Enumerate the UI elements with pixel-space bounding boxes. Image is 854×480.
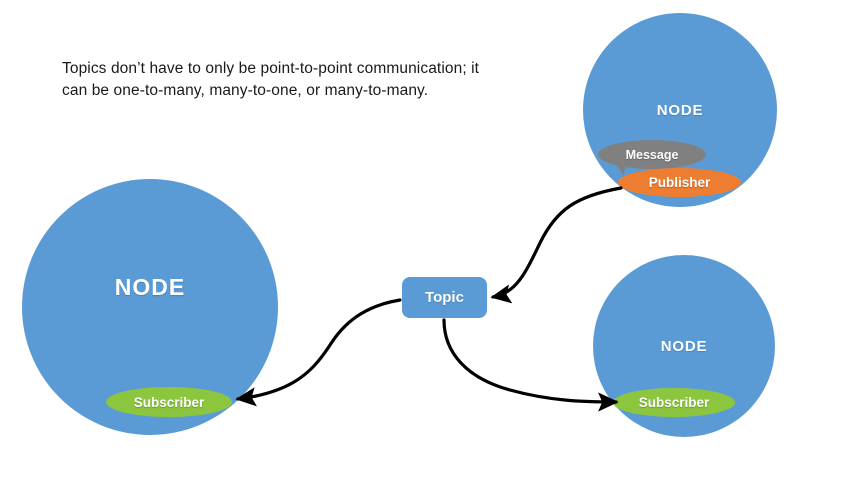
topic-box: Topic xyxy=(402,277,487,318)
node-left-label: NODE xyxy=(22,274,278,301)
subscriber-pill-bottom-right: Subscriber xyxy=(613,388,735,417)
subscriber-pill-left: Subscriber xyxy=(106,387,232,417)
arrow-publisher-to-topic xyxy=(493,188,621,297)
caption-text: Topics don’t have to only be point-to-po… xyxy=(62,58,482,103)
message-bubble: Message xyxy=(598,140,706,169)
arrow-topic-to-subscriber-bottom-right xyxy=(444,320,616,402)
diagram-canvas: Topics don’t have to only be point-to-po… xyxy=(0,0,854,480)
node-bottom-right-label: NODE xyxy=(593,338,775,355)
publisher-pill: Publisher xyxy=(618,168,741,197)
node-top-right-label: NODE xyxy=(583,102,777,119)
